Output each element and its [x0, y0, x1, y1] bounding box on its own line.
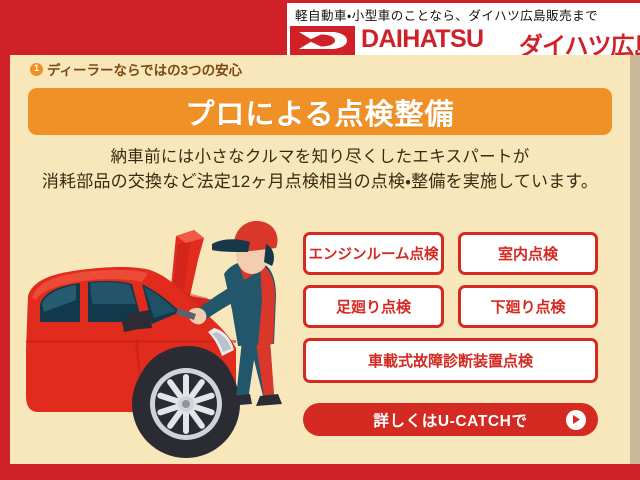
section-label-text: ディーラーならではの3つの安心 [47, 59, 242, 79]
chip-label: 室内点検 [498, 243, 558, 264]
page-header: 軽自動車・小型車のことなら、ダイハツ広島販売まで DAIHATSU ダイハツ広島… [0, 0, 640, 55]
chip-label: 車載式故障診断装置点検 [368, 350, 533, 371]
inspection-chip-suspension[interactable]: 足廻り点検 [303, 285, 444, 328]
dealer-logo-block: 軽自動車・小型車のことなら、ダイハツ広島販売まで DAIHATSU ダイハツ広島… [287, 3, 640, 55]
section-title-banner: プロによる点検整備 [28, 88, 612, 135]
chip-label: 下廻り点検 [490, 296, 565, 317]
daihatsu-mark-icon [290, 26, 355, 55]
panel-right-edge [630, 55, 640, 464]
chip-label: エンジンルーム点検 [308, 243, 438, 264]
inspection-chip-engine-room[interactable]: エンジンルーム点検 [303, 232, 444, 275]
advertisement-page: 軽自動車・小型車のことなら、ダイハツ広島販売まで DAIHATSU ダイハツ広島… [0, 0, 640, 480]
header-tagline: 軽自動車・小型車のことなら、ダイハツ広島販売まで [295, 7, 635, 25]
lead-line-2: 消耗部品の交換など法定12ヶ月点検相当の点検・整備を実施しています。 [20, 169, 620, 195]
section-label: 1 ディーラーならではの3つの安心 [30, 59, 242, 79]
footer-bar [0, 464, 640, 480]
lead-line-1: 納車前には小さなクルマを知り尽くしたエキスパートが [20, 145, 620, 169]
inspection-chip-interior[interactable]: 室内点検 [458, 232, 598, 275]
brand-row: DAIHATSU ダイハツ広島販売 [287, 26, 640, 55]
chip-label: 足廻り点検 [336, 296, 411, 317]
play-arrow-icon [566, 410, 586, 430]
inspection-chip-underbody[interactable]: 下廻り点検 [458, 285, 598, 328]
section-number-badge: 1 [30, 63, 43, 76]
inspection-chip-obd-diagnostics[interactable]: 車載式故障診断装置点検 [303, 338, 598, 383]
mechanic-car-illustration [18, 200, 308, 462]
cta-label: 詳しくはU-CATCHで [373, 409, 527, 431]
brand-latin-text: DAIHATSU [361, 25, 484, 54]
lead-paragraph: 納車前には小さなクルマを知り尽くしたエキスパートが 消耗部品の交換など法定12ヶ… [20, 145, 620, 195]
section-title-text: プロによる点検整備 [185, 91, 454, 133]
u-catch-cta-button[interactable]: 詳しくはU-CATCHで [303, 403, 598, 436]
